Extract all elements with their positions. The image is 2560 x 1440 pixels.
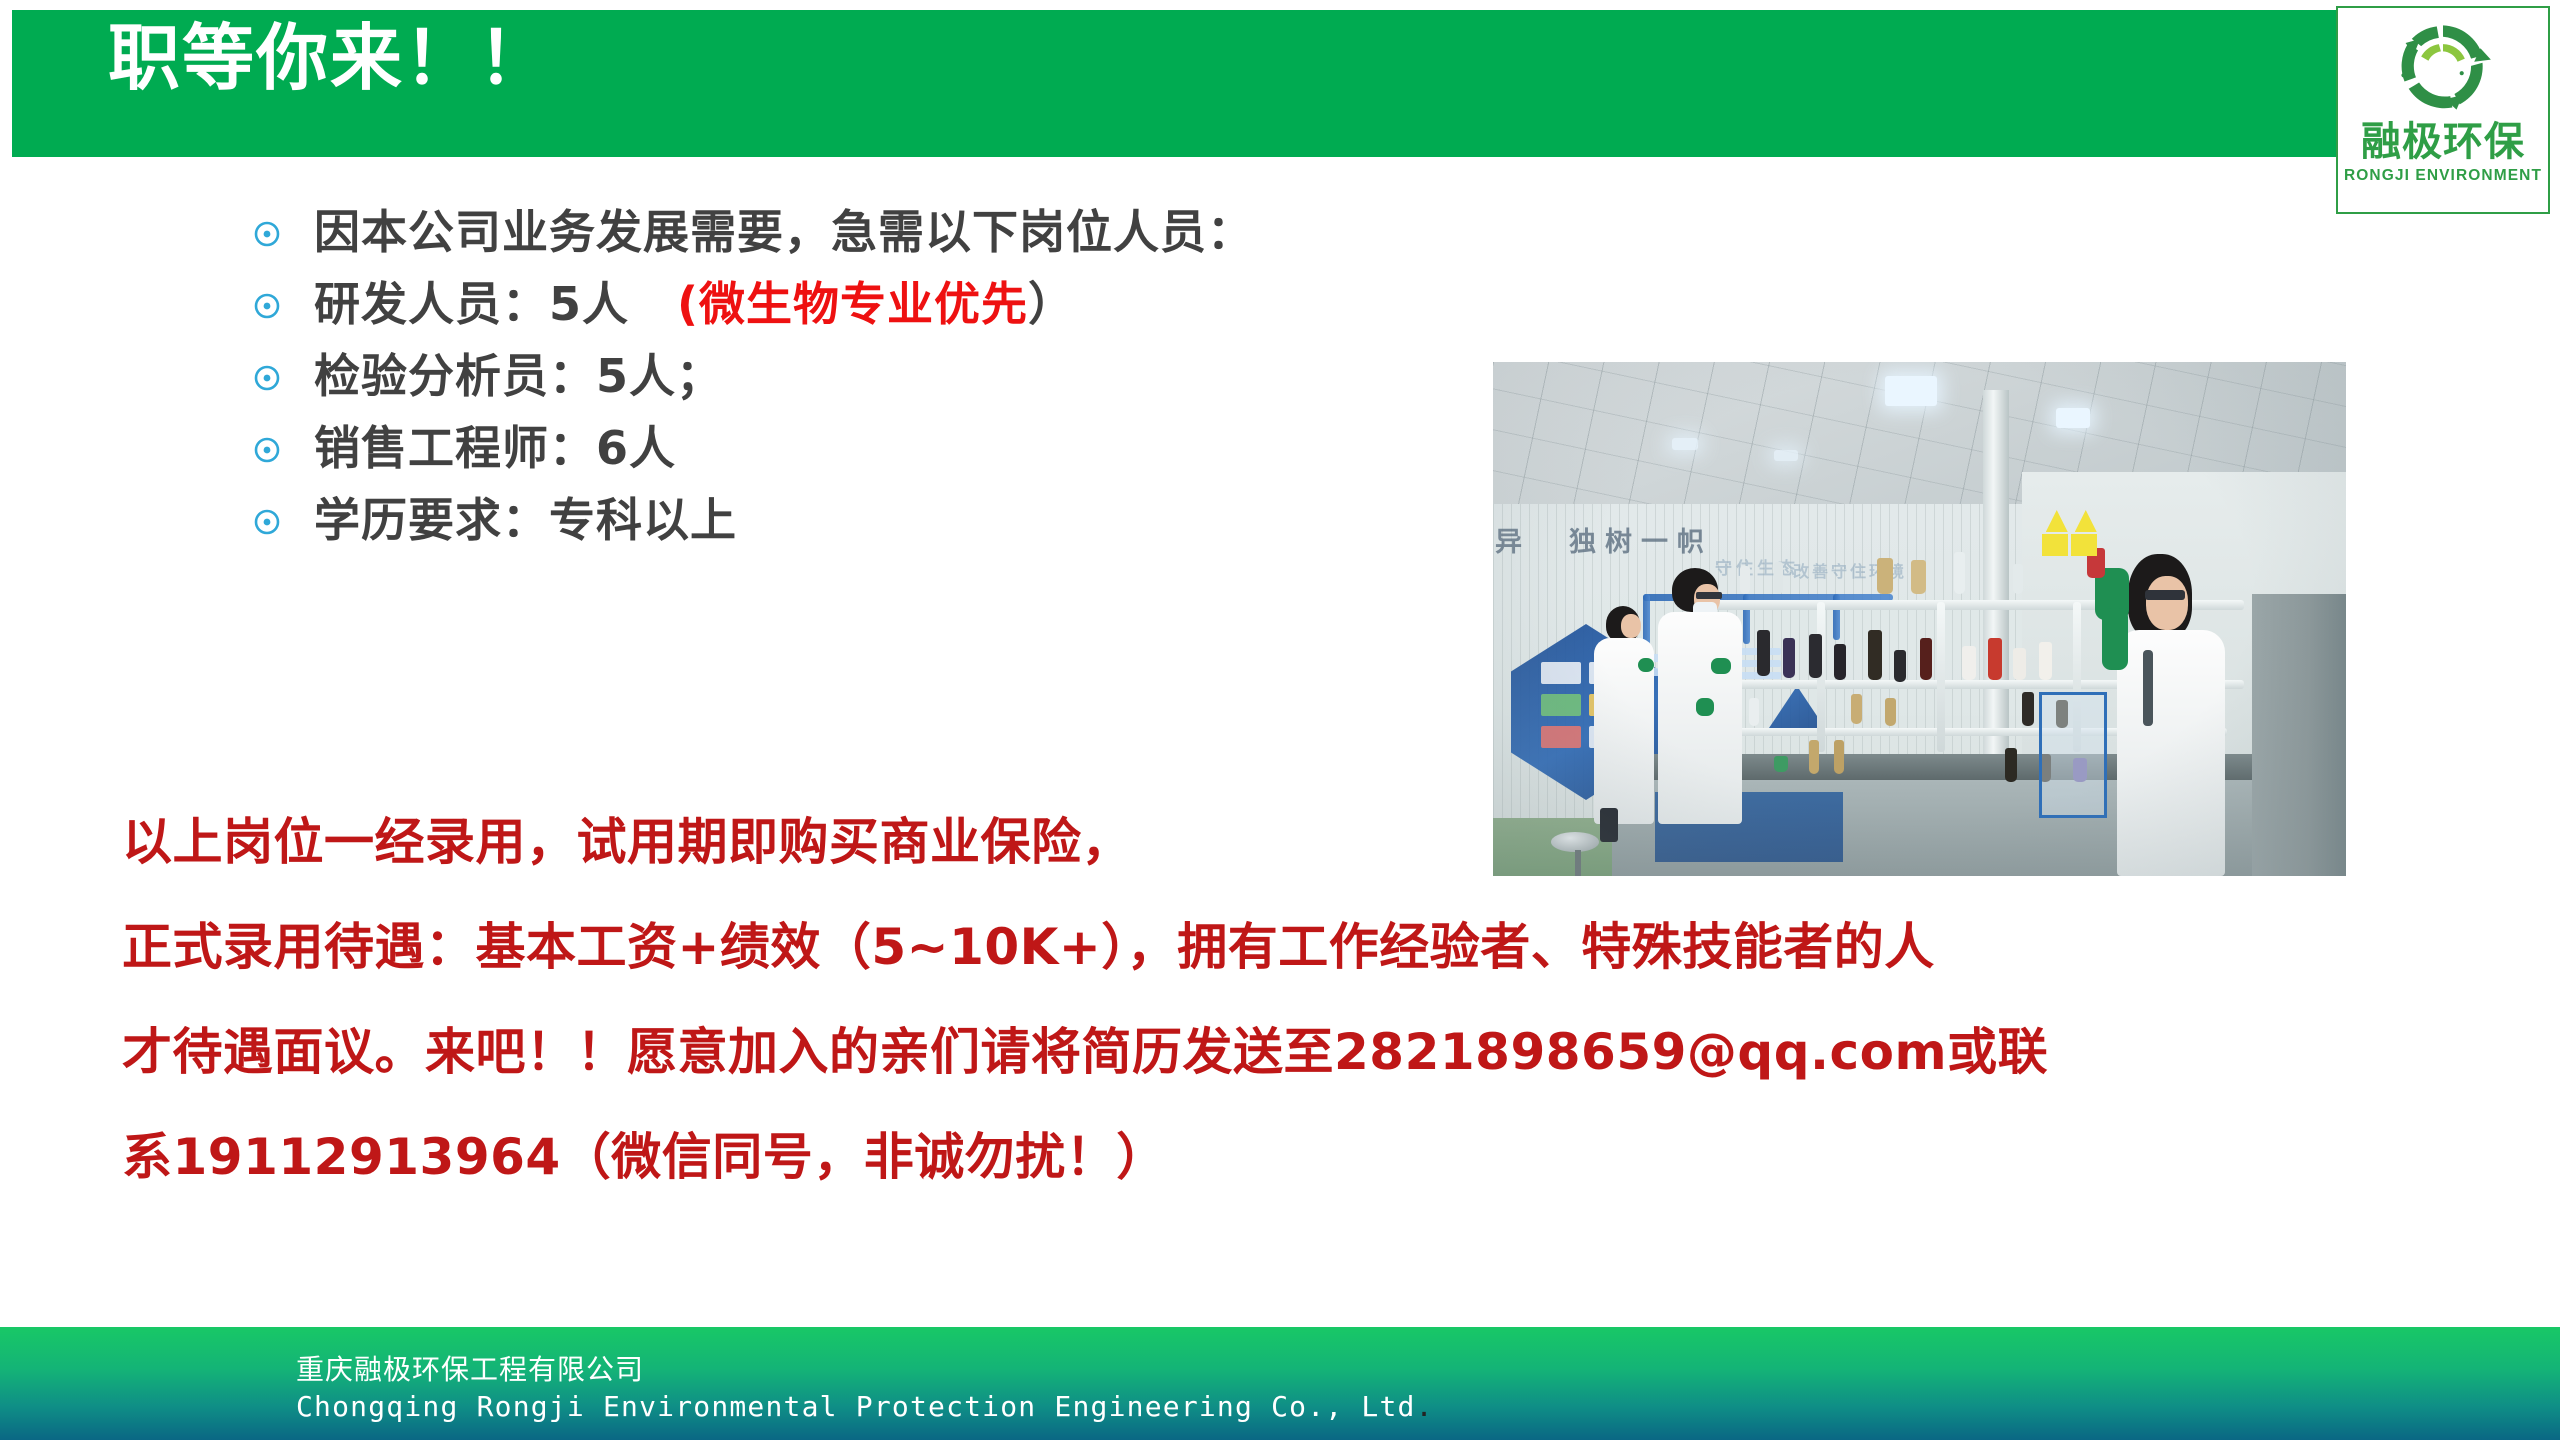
footer-company-cn: 重庆融极环保工程有限公司	[296, 1348, 644, 1388]
circle-dot-bullet-icon	[252, 363, 282, 393]
rd-position-note: (微生物专业优先	[677, 277, 1028, 331]
bullet-label-2: 检验分析员：5人；	[314, 353, 723, 399]
recycle-circle-icon	[2391, 16, 2495, 120]
paragraph-line-2: 正式录用待遇：基本工资+绩效（5~10K+），拥有工作经验者、特殊技能者的人	[122, 895, 2502, 1000]
footer-company-en: Chongqing Rongji Environmental Protectio…	[296, 1390, 1434, 1423]
list-item: 因本公司业务发展需要，急需以下岗位人员：	[252, 196, 1502, 268]
logo-chinese-name: 融极环保	[2361, 122, 2525, 162]
list-item: 研发人员：5人(微生物专业优先）	[252, 268, 1502, 340]
recruitment-details-paragraph: 以上岗位一经录用，试用期即购买商业保险， 正式录用待遇：基本工资+绩效（5~10…	[122, 790, 2502, 1210]
bullet-label-3: 销售工程师：6人	[314, 425, 676, 471]
circle-dot-bullet-icon	[252, 507, 282, 537]
recruitment-slide: 职等你来！！ 融极环保 RONGJI ENVIRONMENT	[0, 0, 2560, 1440]
footer-company-en-period: .	[1416, 1390, 1434, 1423]
page-title: 职等你来！！	[108, 22, 552, 94]
job-bullet-list: 因本公司业务发展需要，急需以下岗位人员： 研发人员：5人(微生物专业优先） 检验…	[252, 196, 1502, 556]
footer-company-en-text: Chongqing Rongji Environmental Protectio…	[296, 1390, 1416, 1423]
list-item: 学历要求：专科以上	[252, 484, 1502, 556]
circle-dot-bullet-icon	[252, 435, 282, 465]
bullet-label-0: 因本公司业务发展需要，急需以下岗位人员：	[314, 209, 1254, 255]
company-logo: 融极环保 RONGJI ENVIRONMENT	[2336, 6, 2550, 214]
logo-english-name: RONGJI ENVIRONMENT	[2344, 168, 2542, 184]
paragraph-line-4: 系19112913964（微信同号，非诚勿扰！）	[122, 1105, 2502, 1210]
rd-position-note-close: ）	[1028, 277, 1075, 331]
paragraph-line-1: 以上岗位一经录用，试用期即购买商业保险，	[122, 790, 2502, 895]
list-item: 检验分析员：5人；	[252, 340, 1502, 412]
paragraph-line-3: 才待遇面议。来吧！！愿意加入的亲们请将简历发送至2821898659@qq.co…	[122, 1000, 2502, 1105]
rd-position-label: 研发人员：5人	[314, 277, 629, 331]
circle-dot-bullet-icon	[252, 219, 282, 249]
bullet-label-1: 研发人员：5人(微生物专业优先）	[314, 281, 1075, 327]
bullet-label-4: 学历要求：专科以上	[314, 497, 737, 543]
list-item: 销售工程师：6人	[252, 412, 1502, 484]
circle-dot-bullet-icon	[252, 291, 282, 321]
